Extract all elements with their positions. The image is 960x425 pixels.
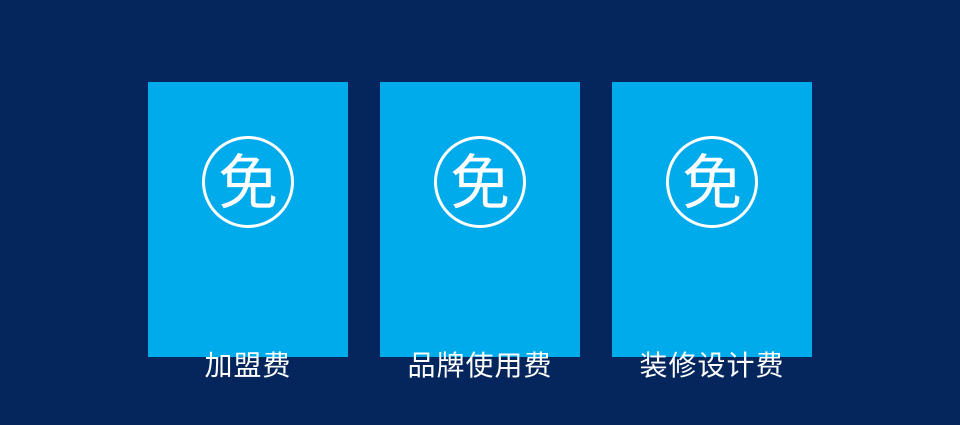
free-circle-icon: 免 [434, 136, 526, 228]
benefit-card-label: 加盟费 [148, 350, 348, 382]
free-circle-icon: 免 [202, 136, 294, 228]
free-character: 免 [450, 149, 510, 219]
benefit-card-row: 免 加盟费 免 品牌使用费 免 装修设计费 [148, 82, 812, 357]
benefit-card-franchise-fee[interactable]: 免 加盟费 [148, 82, 348, 357]
poster-canvas: 免 加盟费 免 品牌使用费 免 装修设计费 [0, 0, 960, 425]
benefit-card-label: 品牌使用费 [380, 350, 580, 382]
benefit-card-brand-usage-fee[interactable]: 免 品牌使用费 [380, 82, 580, 357]
free-character: 免 [218, 149, 278, 219]
benefit-card-label: 装修设计费 [612, 350, 812, 382]
free-character: 免 [682, 149, 742, 219]
benefit-card-decoration-design-fee[interactable]: 免 装修设计费 [612, 82, 812, 357]
free-circle-icon: 免 [666, 136, 758, 228]
